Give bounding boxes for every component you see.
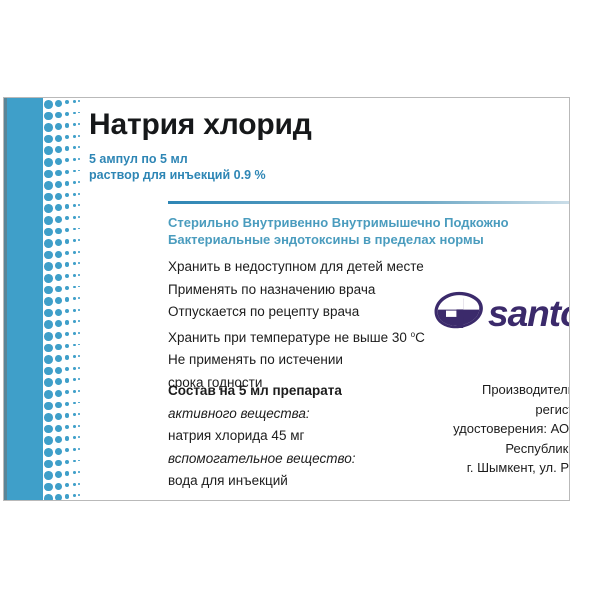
halftone-dot	[44, 413, 53, 422]
santo-wordmark: santo	[488, 292, 570, 336]
halftone-dot	[73, 367, 76, 370]
halftone-dot	[65, 100, 69, 104]
halftone-dot	[65, 262, 69, 266]
halftone-dot	[44, 483, 53, 492]
halftone-dot	[78, 355, 80, 357]
halftone-dot	[44, 355, 53, 364]
manufacturer-line: Производитель/Держатель	[343, 380, 570, 400]
halftone-dot	[78, 425, 80, 427]
dosage-info: 5 ампул по 5 мл раствор для инъекций 0.9…	[89, 151, 312, 183]
halftone-dot	[78, 274, 80, 276]
composition-heading: Состав на 5 мл препарата	[168, 380, 356, 403]
halftone-dot	[65, 413, 69, 417]
halftone-dot	[73, 228, 76, 231]
sterile-line-2: Бактериальные эндотоксины в пределах нор…	[168, 231, 509, 248]
halftone-dot	[65, 320, 69, 324]
halftone-dot	[65, 274, 69, 278]
halftone-dot	[55, 146, 62, 153]
halftone-dot	[65, 112, 69, 116]
halftone-dot	[65, 367, 69, 371]
halftone-dot	[73, 471, 76, 474]
halftone-dot	[44, 402, 53, 411]
halftone-dot	[65, 460, 69, 464]
halftone-dot	[78, 483, 80, 485]
stripe-edge-shadow	[4, 98, 7, 500]
santo-cross-emblem-icon	[432, 290, 490, 336]
halftone-dot	[78, 320, 80, 322]
halftone-dot	[44, 320, 53, 329]
halftone-dot	[73, 483, 76, 486]
divider-rule	[168, 201, 570, 204]
halftone-dot	[73, 112, 76, 115]
halftone-dot	[44, 239, 53, 248]
halftone-dot	[78, 112, 80, 114]
instruction-temperature-text: Хранить при температуре не выше 30	[168, 330, 411, 345]
halftone-dot	[73, 251, 76, 254]
instruction-item: Отпускается по рецепту врача	[168, 301, 425, 324]
halftone-dot	[44, 251, 53, 260]
halftone-dot	[65, 193, 69, 197]
halftone-dot-column	[65, 98, 71, 500]
halftone-dot	[78, 460, 80, 462]
halftone-dot	[44, 425, 53, 434]
halftone-dot	[44, 344, 53, 353]
halftone-dot	[73, 344, 76, 347]
card-content: Натрия хлорид 5 ампул по 5 мл раствор дл…	[83, 98, 569, 500]
halftone-dot	[73, 425, 76, 428]
halftone-dot	[44, 390, 53, 399]
halftone-dot-column	[44, 98, 55, 500]
halftone-dot	[65, 204, 69, 208]
halftone-dot	[73, 100, 76, 103]
halftone-dot	[55, 355, 62, 362]
dosage-line-1: 5 ампул по 5 мл	[89, 151, 312, 167]
halftone-dot	[78, 239, 80, 241]
halftone-dot	[55, 471, 62, 478]
halftone-dot	[55, 367, 62, 374]
halftone-dot	[44, 170, 53, 179]
halftone-dot	[78, 448, 80, 450]
halftone-dot	[44, 112, 53, 121]
halftone-dot	[65, 170, 69, 174]
halftone-dot	[55, 402, 62, 409]
excipient-value: вода для инъекций	[168, 470, 356, 493]
halftone-dot	[55, 390, 62, 397]
halftone-dot	[73, 204, 76, 207]
halftone-dot	[78, 471, 80, 473]
halftone-dot	[78, 413, 80, 415]
instruction-item-temperature: Хранить при температуре не выше 30 oC	[168, 324, 425, 350]
halftone-dot	[44, 378, 53, 387]
halftone-dot	[44, 181, 53, 190]
halftone-dot	[73, 332, 76, 335]
halftone-dot	[55, 344, 62, 351]
manufacturer-line: г. Шымкент, ул. Рашидова, 81	[343, 458, 570, 478]
halftone-dot	[55, 158, 62, 165]
manufacturer-info: Производитель/Держатель регистрационного…	[343, 380, 570, 497]
halftone-dot	[73, 436, 76, 439]
halftone-dot	[78, 332, 80, 334]
manufacturer-line: удостоверения: АО “Химфарм”,	[343, 419, 570, 439]
sterile-line-1: Стерильно Внутривенно Внутримышечно Подк…	[168, 214, 509, 231]
halftone-dot	[55, 460, 62, 467]
halftone-dot	[44, 158, 53, 167]
halftone-dot	[44, 228, 53, 237]
halftone-dot	[44, 262, 53, 271]
halftone-dot	[55, 112, 62, 119]
halftone-dot	[73, 158, 76, 161]
halftone-dot	[65, 216, 69, 220]
halftone-dot	[73, 402, 76, 405]
halftone-dot	[44, 332, 53, 341]
halftone-dot	[78, 402, 80, 404]
halftone-dot	[73, 320, 76, 323]
halftone-dot	[44, 204, 53, 213]
halftone-dot	[73, 135, 76, 138]
halftone-dot	[78, 494, 80, 496]
halftone-dot	[73, 274, 76, 277]
halftone-dot	[65, 309, 69, 313]
halftone-dot	[55, 332, 62, 339]
halftone-dot	[73, 181, 76, 184]
halftone-dot	[73, 378, 76, 381]
halftone-dot	[78, 262, 80, 264]
halftone-dot	[55, 123, 62, 130]
halftone-dot	[55, 297, 62, 304]
instructions-list: Хранить в недоступном для детей месте Пр…	[168, 256, 425, 394]
halftone-dot	[65, 378, 69, 382]
halftone-dot	[65, 123, 69, 127]
halftone-dot	[44, 471, 53, 480]
halftone-dot	[65, 448, 69, 452]
santo-logo: santo	[432, 290, 570, 342]
halftone-dot	[55, 100, 62, 107]
halftone-dot	[65, 436, 69, 440]
halftone-dot	[44, 193, 53, 202]
halftone-dot	[78, 216, 80, 218]
halftone-dot	[78, 100, 80, 102]
halftone-dot	[73, 460, 76, 463]
manufacturer-line: регистрационного	[343, 400, 570, 420]
halftone-dot	[65, 286, 69, 290]
page-title: Натрия хлорид	[89, 110, 312, 140]
halftone-dot	[44, 436, 53, 445]
halftone-dot	[44, 367, 53, 376]
halftone-dot	[78, 344, 80, 346]
halftone-dot	[73, 413, 76, 416]
halftone-dot	[55, 448, 62, 455]
halftone-dot	[65, 483, 69, 487]
halftone-dot	[55, 204, 62, 211]
halftone-dot	[55, 228, 62, 235]
halftone-dot	[73, 286, 76, 289]
halftone-dot	[44, 135, 53, 144]
manufacturer-line: Республика Казахстан,	[343, 439, 570, 459]
halftone-dot	[78, 390, 80, 392]
halftone-dot	[78, 436, 80, 438]
halftone-dot	[73, 309, 76, 312]
halftone-dot	[78, 135, 80, 137]
halftone-dot	[55, 262, 62, 269]
halftone-dot	[73, 390, 76, 393]
halftone-dot	[65, 344, 69, 348]
halftone-dot	[65, 390, 69, 394]
halftone-dot	[73, 123, 76, 126]
halftone-dot	[65, 251, 69, 255]
halftone-dot-column	[55, 98, 64, 500]
halftone-dot	[65, 228, 69, 232]
halftone-dot	[55, 320, 62, 327]
halftone-dot-column	[78, 98, 82, 500]
halftone-dot	[55, 181, 62, 188]
halftone-dot	[44, 274, 53, 283]
halftone-dot	[44, 309, 53, 318]
halftone-dot	[78, 181, 80, 183]
active-substance-value: натрия хлорида 45 мг	[168, 425, 356, 448]
halftone-dot	[55, 413, 62, 420]
license-code: РК-ЛС-	[343, 478, 570, 498]
halftone-dot	[44, 100, 53, 109]
halftone-dot	[78, 193, 80, 195]
halftone-dot	[65, 471, 69, 475]
sterile-notes: Стерильно Внутривенно Внутримышечно Подк…	[168, 214, 509, 248]
halftone-dot	[78, 367, 80, 369]
halftone-dot	[55, 135, 62, 142]
halftone-dot	[73, 193, 76, 196]
halftone-dot	[44, 494, 53, 501]
halftone-dot	[55, 216, 62, 223]
halftone-dot	[65, 135, 69, 139]
halftone-dot	[78, 378, 80, 380]
instruction-item: Не применять по истечении	[168, 349, 425, 372]
halftone-dot	[78, 309, 80, 311]
halftone-dot	[65, 402, 69, 406]
halftone-dot	[73, 262, 76, 265]
dosage-line-2: раствор для инъекций 0.9 %	[89, 167, 312, 183]
halftone-dot	[44, 216, 53, 225]
halftone-dot	[65, 239, 69, 243]
halftone-dot	[65, 494, 69, 498]
halftone-dot	[44, 123, 53, 132]
halftone-dot-band	[43, 98, 81, 500]
halftone-dot	[65, 158, 69, 162]
halftone-dot	[73, 146, 76, 149]
halftone-dot	[65, 146, 69, 150]
halftone-dot	[55, 309, 62, 316]
halftone-dot	[78, 146, 80, 148]
halftone-dot	[44, 448, 53, 457]
halftone-dot	[55, 239, 62, 246]
halftone-dot	[78, 286, 80, 288]
halftone-dot	[73, 355, 76, 358]
active-substance-label: активного вещества:	[168, 403, 356, 426]
temperature-unit: C	[415, 330, 425, 345]
halftone-dot	[55, 286, 62, 293]
halftone-dot	[55, 251, 62, 258]
halftone-dot	[44, 460, 53, 469]
halftone-dot	[65, 425, 69, 429]
halftone-dot	[65, 332, 69, 336]
halftone-dot	[55, 378, 62, 385]
halftone-dot	[78, 251, 80, 253]
halftone-dot	[78, 123, 80, 125]
composition-block: Состав на 5 мл препарата активного вещес…	[168, 380, 356, 493]
halftone-dot	[55, 483, 62, 490]
medicine-package-card: Натрия хлорид 5 ампул по 5 мл раствор дл…	[3, 97, 570, 501]
halftone-dot	[73, 297, 76, 300]
halftone-dot	[65, 355, 69, 359]
halftone-dot	[44, 286, 53, 295]
halftone-dot	[73, 239, 76, 242]
title-block: Натрия хлорид 5 ампул по 5 мл раствор дл…	[89, 110, 312, 183]
halftone-dot	[55, 436, 62, 443]
halftone-dot	[55, 170, 62, 177]
halftone-dot	[44, 146, 53, 155]
halftone-dot	[78, 170, 80, 172]
excipient-label: вспомогательное вещество:	[168, 448, 356, 471]
halftone-dot	[78, 158, 80, 160]
instruction-item: Хранить в недоступном для детей месте	[168, 256, 425, 279]
halftone-dot	[55, 274, 62, 281]
halftone-dot	[73, 170, 76, 173]
halftone-dot	[44, 297, 53, 306]
halftone-dot	[78, 228, 80, 230]
halftone-dot	[73, 494, 76, 497]
instruction-item: Применять по назначению врача	[168, 279, 425, 302]
halftone-dot	[55, 425, 62, 432]
halftone-dot	[55, 494, 62, 501]
halftone-dot	[65, 181, 69, 185]
halftone-dot	[73, 448, 76, 451]
halftone-dot	[55, 193, 62, 200]
halftone-dot	[78, 204, 80, 206]
halftone-dot	[78, 297, 80, 299]
halftone-dot	[65, 297, 69, 301]
halftone-dot	[73, 216, 76, 219]
blue-stripe	[4, 98, 43, 500]
